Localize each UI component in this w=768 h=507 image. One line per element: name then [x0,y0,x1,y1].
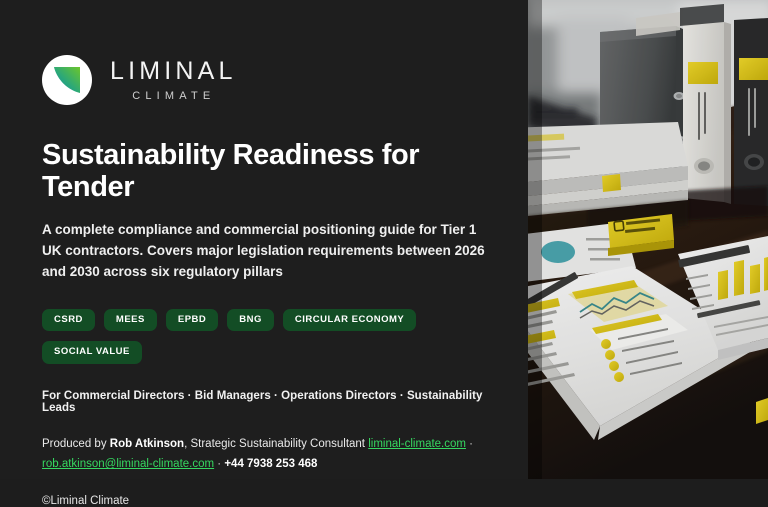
brand-name: LIMINAL [106,59,237,84]
credits-separator: · [214,458,224,470]
email-link[interactable]: rob.atkinson@liminal-climate.com [42,458,214,470]
tag-pill[interactable]: BNG [227,309,274,332]
liminal-leaf-mark-icon [42,55,92,105]
tag-row-primary: CSRD MEES EPBD BNG CIRCULAR ECONOMY [42,309,488,332]
brand-wordmark: LIMINAL CLIMATE [106,59,237,102]
tag-pill[interactable]: SOCIAL VALUE [42,341,142,364]
author-role: , Strategic Sustainability Consultant [184,438,368,450]
credits-block: Produced by Rob Atkinson, Strategic Sust… [42,434,488,475]
page-title: Sustainability Readiness for Tender [42,139,488,204]
credits-separator: · [466,438,473,450]
tag-pill[interactable]: EPBD [166,309,218,332]
tag-pill[interactable]: CSRD [42,309,95,332]
copyright-line: ©Liminal Climate [42,495,488,507]
tag-pill[interactable]: CIRCULAR ECONOMY [283,309,416,332]
tag-row-secondary: SOCIAL VALUE [42,341,488,364]
audience-line: For Commercial Directors · Bid Managers … [42,390,488,414]
brand-logo: LIMINAL CLIMATE [42,55,488,105]
website-link[interactable]: liminal-climate.com [368,438,466,450]
brand-sub: CLIMATE [127,91,215,102]
report-cover: LIMINAL CLIMATE Sustainability Readiness… [0,0,768,479]
produced-by-label: Produced by [42,438,110,450]
page-subtitle: A complete compliance and commercial pos… [42,220,488,283]
cover-photo [528,0,768,479]
tag-pill[interactable]: MEES [104,309,157,332]
phone-number[interactable]: +44 7938 253 468 [224,458,317,470]
author-name: Rob Atkinson [110,438,184,450]
cover-left-panel: LIMINAL CLIMATE Sustainability Readiness… [0,0,528,479]
